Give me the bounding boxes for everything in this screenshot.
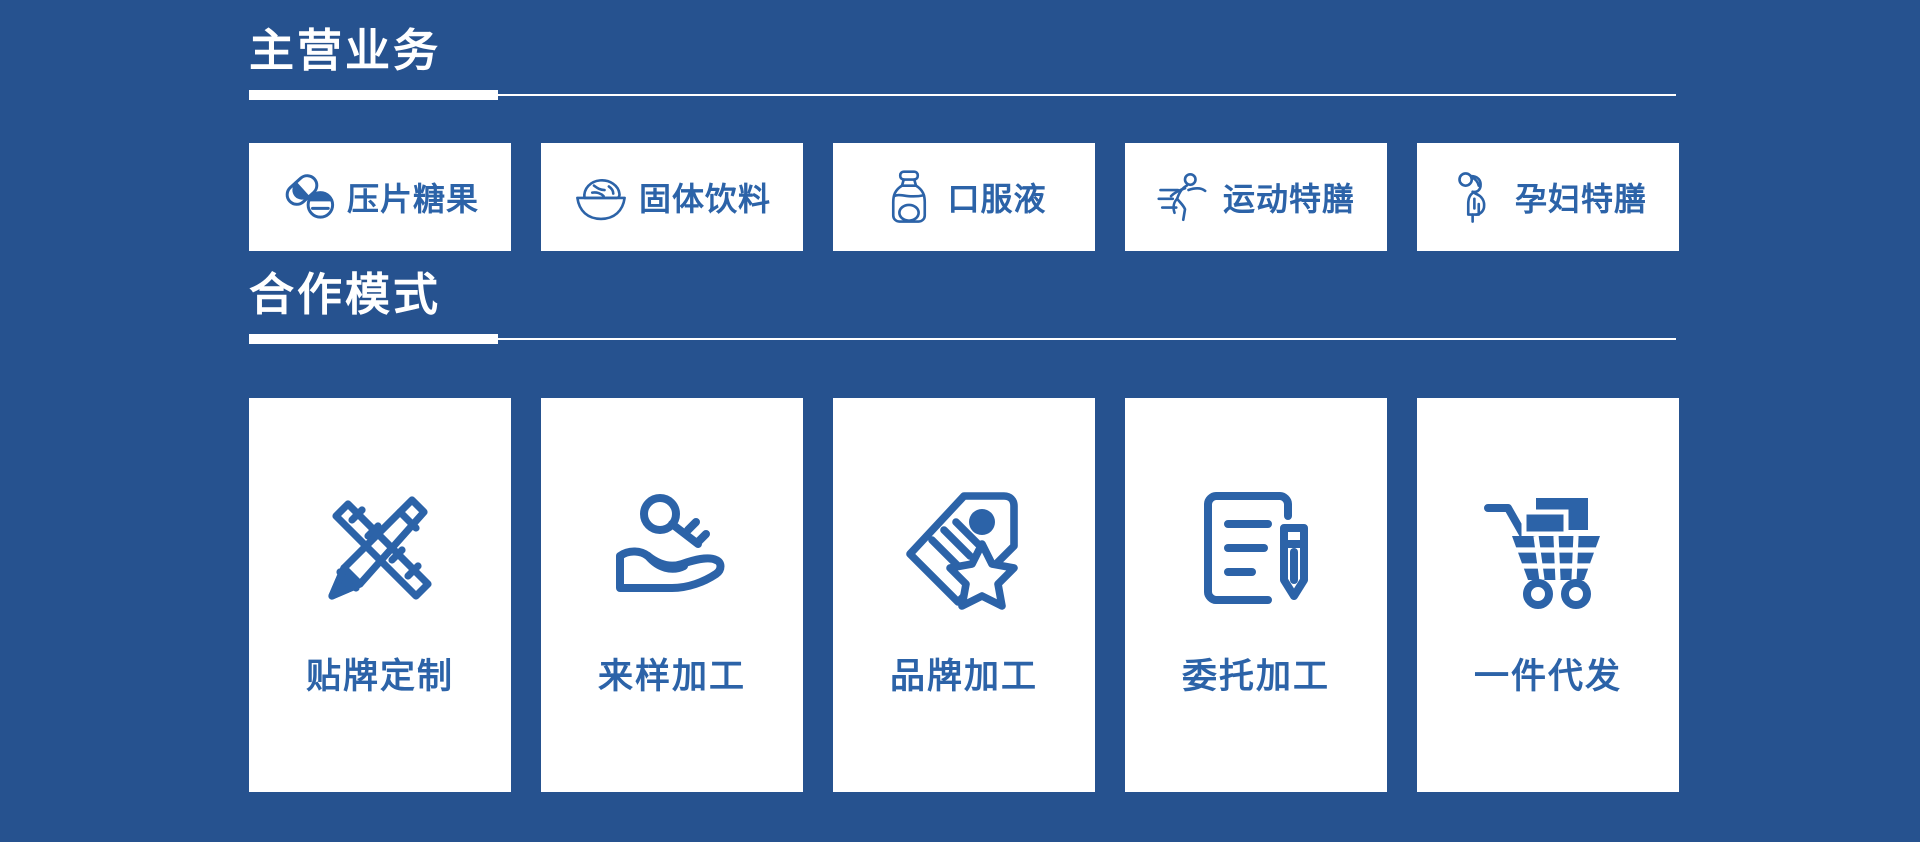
promo-banner: 主营业务 [0,0,1920,842]
section-business: 主营业务 [249,28,1676,102]
oral-liquid-bottle-icon [881,169,937,225]
cooperation-card-dropshipping[interactable]: 一件代发 [1417,398,1679,792]
tag-star-icon [900,484,1028,612]
pencil-ruler-icon [316,484,444,612]
business-card-tablet-candy[interactable]: 压片糖果 [249,143,511,251]
business-card-label: 压片糖果 [347,174,479,220]
cooperation-card-label: 贴牌定制 [306,648,454,699]
pregnant-woman-icon [1449,169,1505,225]
running-person-icon [1157,169,1213,225]
cooperation-card-label: 一件代发 [1474,648,1622,699]
cooperation-card-label: 来样加工 [598,648,746,699]
divider-accent-bar [249,90,498,100]
cooperation-card-label: 委托加工 [1182,648,1330,699]
business-card-solid-beverage[interactable]: 固体饮料 [541,143,803,251]
capsule-pill-icon [281,169,337,225]
business-card-maternity-diet[interactable]: 孕妇特膳 [1417,143,1679,251]
business-card-label: 运动特膳 [1223,174,1355,220]
hand-key-icon [608,484,736,612]
cooperation-card-brand-processing[interactable]: 品牌加工 [833,398,1095,792]
section-cooperation: 合作模式 [249,272,1676,346]
cooperation-card-oem-custom[interactable]: 贴牌定制 [249,398,511,792]
section-divider-business [249,90,1676,102]
section-title-business: 主营业务 [249,28,1676,73]
document-pencil-icon [1192,484,1320,612]
cooperation-card-row: 贴牌定制 来样加工 [249,398,1679,792]
business-card-sports-diet[interactable]: 运动特膳 [1125,143,1387,251]
business-card-row: 压片糖果 固体饮料 [249,143,1679,251]
business-card-label: 口服液 [947,174,1046,220]
business-card-label: 孕妇特膳 [1515,174,1647,220]
divider-accent-bar [249,334,498,344]
section-divider-cooperation [249,334,1676,346]
cooperation-card-sample-processing[interactable]: 来样加工 [541,398,803,792]
section-title-cooperation: 合作模式 [249,272,1676,317]
business-card-label: 固体饮料 [639,174,771,220]
cooperation-card-label: 品牌加工 [890,648,1038,699]
powder-bowl-icon [573,169,629,225]
cooperation-card-contract-processing[interactable]: 委托加工 [1125,398,1387,792]
business-card-oral-liquid[interactable]: 口服液 [833,143,1095,251]
shopping-cart-icon [1484,484,1612,612]
